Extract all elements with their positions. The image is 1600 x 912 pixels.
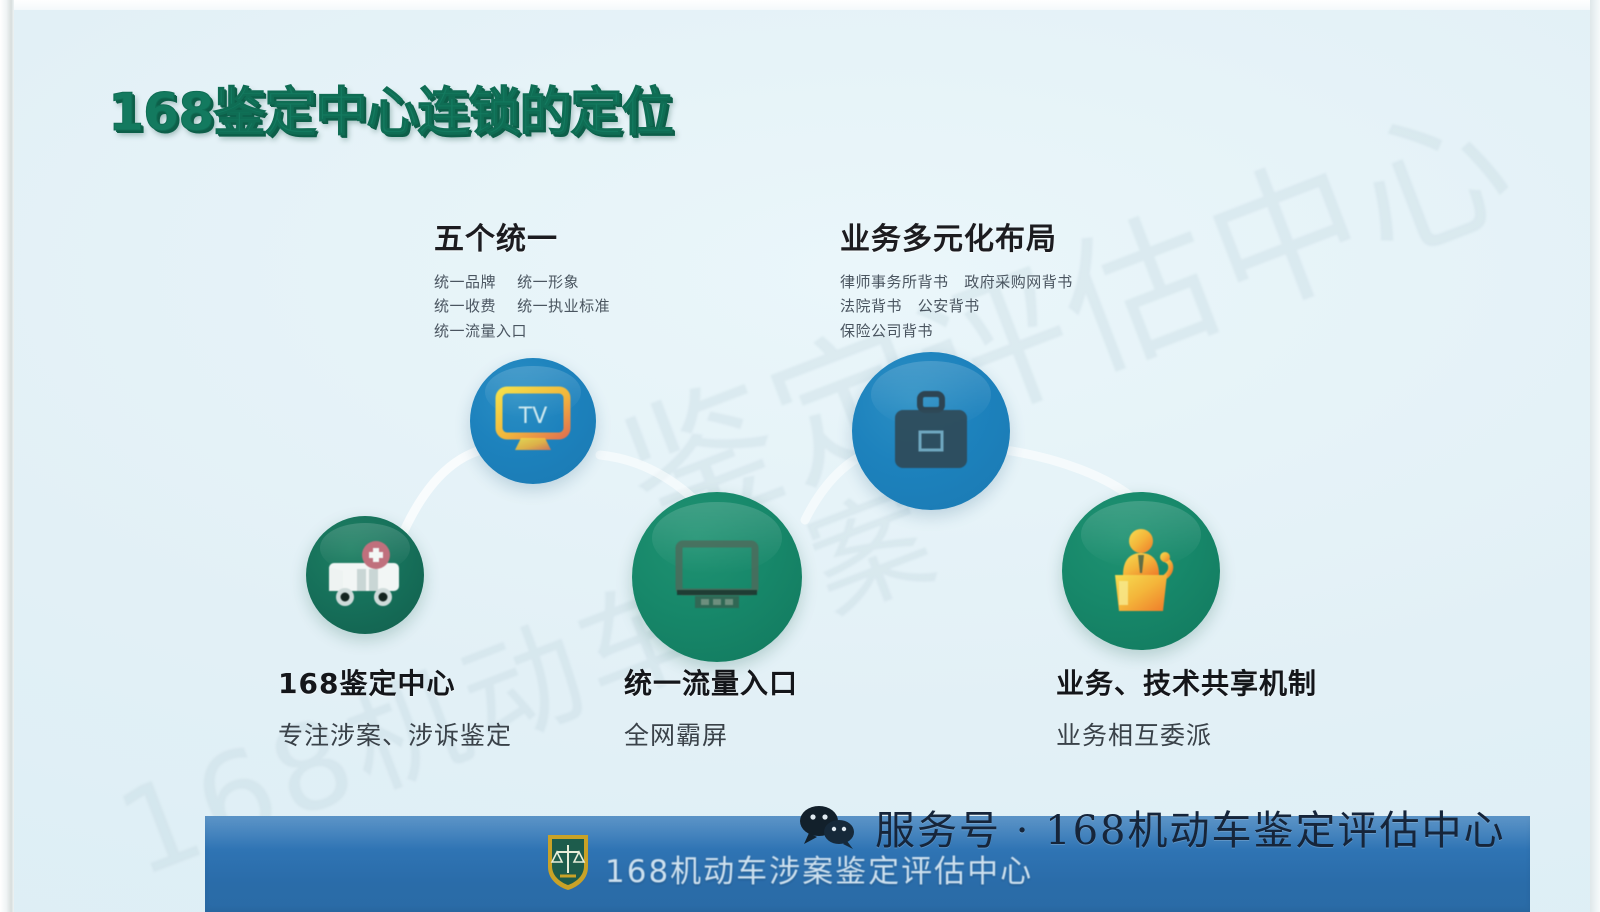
label-title: 业务、技术共享机制 [1056,662,1317,702]
slide-top-edge [0,0,1600,10]
label-subtitle: 全网霸屏 [624,716,798,752]
text-block-five-unifications: 五个统一 统一品牌 统一形象 统一收费 统一执业标准 统一流量入口 [434,214,610,343]
ambulance-icon [319,537,411,613]
label-block-168-center: 168鉴定中心 专注涉案、涉诉鉴定 [278,662,512,752]
wechat-icon [795,804,861,850]
block-heading: 五个统一 [434,214,610,258]
label-block-sharing-mechanism: 业务、技术共享机制 业务相互委派 [1056,662,1317,752]
text-block-business-diversification: 业务多元化布局 律师事务所背书 政府采购网背书 法院背书 公安背书 保险公司背书 [840,214,1073,343]
wechat-overlay: 服务号 · 168机动车鉴定评估中心 [795,798,1506,856]
block-line: 律师事务所背书 政府采购网背书 [840,270,1073,294]
tv-icon: TV [493,384,573,458]
circle-monitor[interactable] [632,492,802,662]
label-title: 统一流量入口 [624,662,798,702]
wechat-overlay-text: 服务号 · 168机动车鉴定评估中心 [875,798,1506,856]
label-block-traffic-entry: 统一流量入口 全网霸屏 [624,662,798,752]
slide-canvas: 168机动车涉案 鉴定评估中心 168鉴定中心连锁的定位 五个统一 统一品牌 统… [0,0,1600,912]
page-title: 168鉴定中心连锁的定位 [108,70,673,145]
circle-podium-speaker[interactable] [1062,492,1220,650]
scales-of-justice-shield-icon [545,832,591,892]
label-title: 168鉴定中心 [278,662,512,702]
circle-tv[interactable]: TV [470,358,596,484]
svg-text:TV: TV [518,404,548,429]
monitor-icon [671,538,763,616]
block-line: 统一品牌 统一形象 [434,270,610,294]
block-line: 保险公司背书 [840,319,1073,343]
label-subtitle: 专注涉案、涉诉鉴定 [278,716,512,752]
block-line: 法院背书 公安背书 [840,294,1073,318]
podium-speaker-icon [1093,523,1189,619]
briefcase-icon [887,388,975,474]
circle-briefcase[interactable] [852,352,1010,510]
label-subtitle: 业务相互委派 [1056,716,1317,752]
block-heading: 业务多元化布局 [840,214,1073,258]
circle-ambulance[interactable] [306,516,424,634]
block-line: 统一收费 统一执业标准 [434,294,610,318]
block-line: 统一流量入口 [434,319,610,343]
